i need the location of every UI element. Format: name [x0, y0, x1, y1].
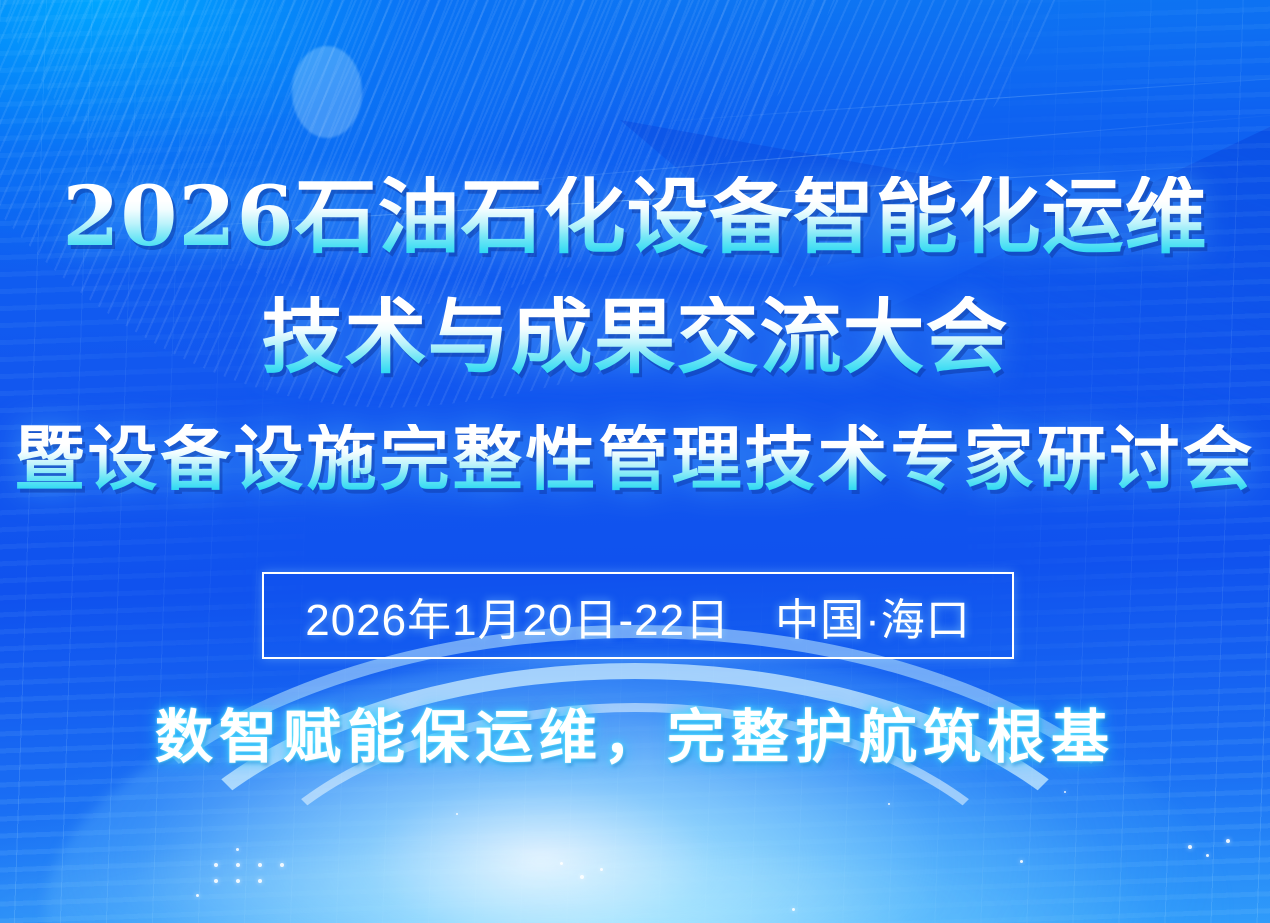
poster-subtitle-line: 暨设备设施完整性管理技术专家研讨会 — [0, 424, 1270, 494]
poster-content: 2026石油石化设备智能化运维 技术与成果交流大会 暨设备设施完整性管理技术专家… — [0, 0, 1270, 923]
poster-title-line-1: 2026石油石化设备智能化运维 — [0, 176, 1270, 258]
conference-poster: 2026石油石化设备智能化运维 技术与成果交流大会 暨设备设施完整性管理技术专家… — [0, 0, 1270, 923]
poster-title-line-2: 技术与成果交流大会 — [0, 296, 1270, 378]
date-location-box: 2026年1月20日-22日 中国·海口 — [262, 572, 1014, 659]
poster-slogan: 数智赋能保运维，完整护航筑根基 — [0, 690, 1270, 774]
date-location-text: 2026年1月20日-22日 中国·海口 — [305, 584, 971, 648]
